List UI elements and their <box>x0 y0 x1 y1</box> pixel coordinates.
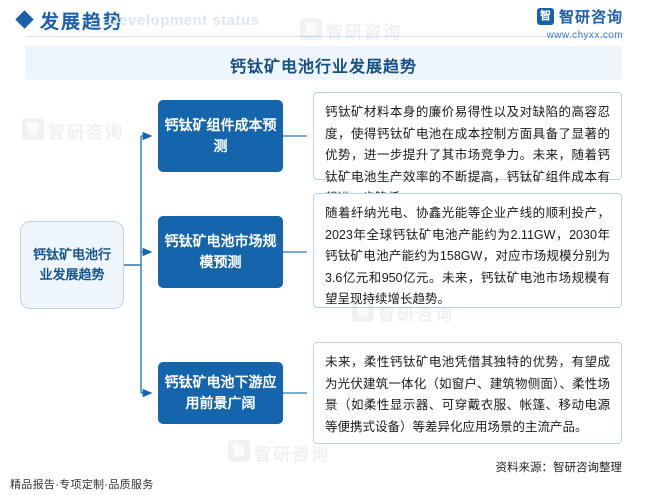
branch-body-3: 未来，柔性钙钛矿电池凭借其独特的优势，有望成为光伏建筑一体化（如窗户、建筑物侧面… <box>313 342 622 444</box>
page-title: 钙钛矿电池行业发展趋势 <box>25 53 622 77</box>
branch-label-2: 钙钛矿电池市场规模预测 <box>158 216 283 288</box>
brand-url: www.chyxx.com <box>537 30 623 41</box>
footer-note: 精品报告·专项定制·品质服务 <box>10 476 154 492</box>
branch-label-3: 钙钛矿电池下游应用前景广阔 <box>158 362 283 424</box>
source-note: 资料来源：智研咨询整理 <box>496 459 623 475</box>
brand-logo-icon: 智 <box>537 8 554 25</box>
branch-body-1: 钙钛矿材料本身的廉价易得性以及对缺陷的高容忍度，使得钙钛矿电池在成本控制方面具备… <box>313 92 622 180</box>
brand-block: 智 智研咨询 www.chyxx.com <box>537 6 623 41</box>
diamond-icon <box>15 10 33 28</box>
page-header: 发展趋势 Development status 智 智研咨询 www.chyxx… <box>0 0 647 42</box>
header-subtitle: Development status <box>108 12 260 29</box>
root-node: 钙钛矿电池行业发展趋势 <box>20 221 124 309</box>
branch-body-2: 随着纤纳光电、协鑫光能等企业产线的顺利投产，2023年全球钙钛矿电池产能约为2.… <box>313 193 622 308</box>
brand-name: 智研咨询 <box>559 6 623 27</box>
branch-label-1: 钙钛矿组件成本预测 <box>158 100 283 172</box>
page-title-bar: 钙钛矿电池行业发展趋势 <box>25 46 622 80</box>
diagram-area: 钙钛矿电池行业发展趋势 钙钛矿组件成本预测 钙钛矿材料本身的廉价易得性以及对缺陷… <box>0 80 647 450</box>
header-divider <box>26 36 621 37</box>
